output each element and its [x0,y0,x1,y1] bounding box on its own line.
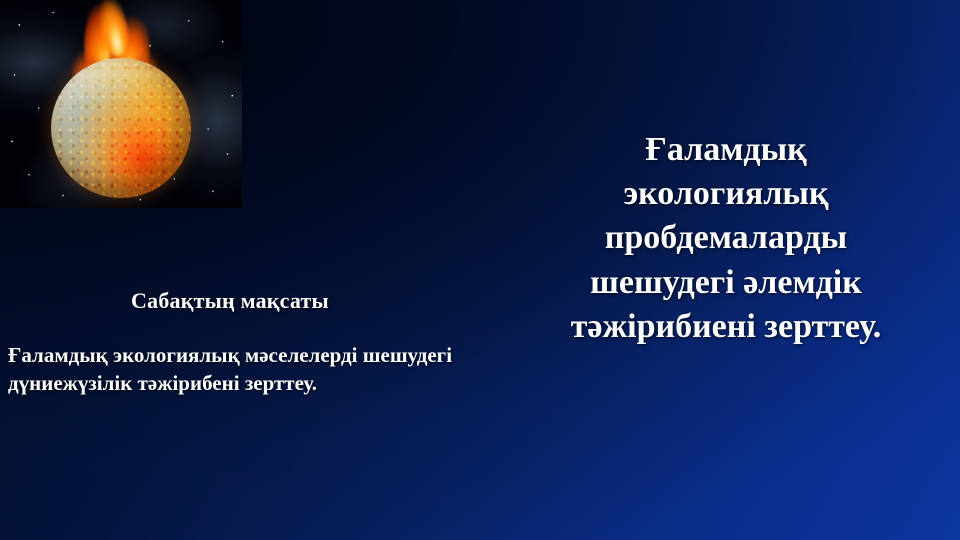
main-title-line-1: Ғаламдық [492,128,960,172]
burning-earth-image [0,0,242,208]
main-title-line-5: тәжірибиені зерттеу. [492,305,960,349]
globe-texture [51,58,191,198]
main-title-line-3: пробдемаларды [492,216,960,260]
main-title-line-2: экологиялық [492,172,960,216]
main-title-line-4: шешудегі әлемдік [492,261,960,305]
globe-icon [51,58,191,198]
slide-canvas: Сабақтың мақсаты Ғаламдық экологиялық мә… [0,0,960,540]
lesson-objective-body: Ғаламдық экологиялық мәселелерді шешудег… [8,342,486,398]
main-title-block: Ғаламдық экологиялық пробдемаларды шешуд… [492,128,960,349]
lesson-objective-heading: Сабақтың мақсаты [0,288,460,314]
